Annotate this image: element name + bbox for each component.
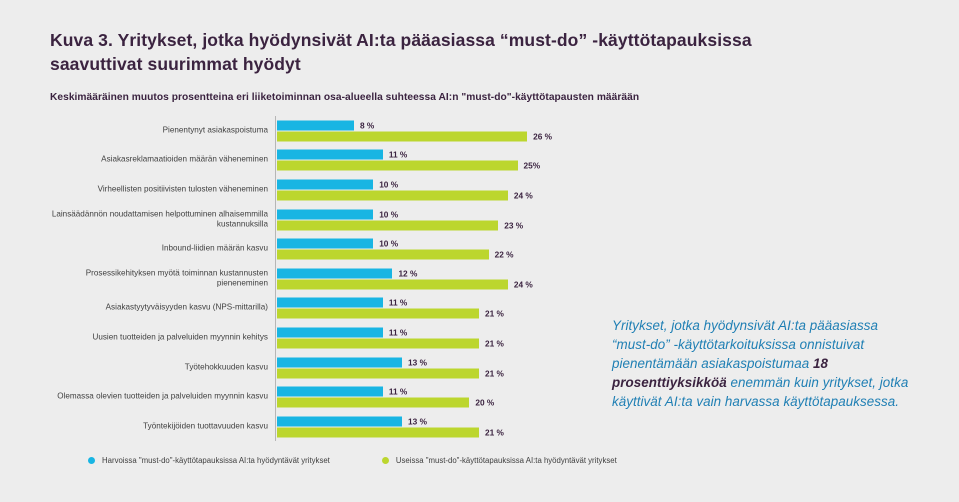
bar-wrapper: 21 % xyxy=(277,338,570,348)
bar-wrapper: 23 % xyxy=(277,220,570,230)
bar-wrapper: 11 % xyxy=(277,387,570,397)
bar-value-label: 10 % xyxy=(379,179,398,189)
bar-high-adopters xyxy=(277,161,518,171)
bar-wrapper: 11 % xyxy=(277,150,570,160)
bar-low-adopters xyxy=(277,120,354,130)
bar-group: 10 %22 % xyxy=(277,239,570,260)
bar-low-adopters xyxy=(277,209,373,219)
bar-wrapper: 24 % xyxy=(277,190,570,200)
bar-high-adopters xyxy=(277,368,479,378)
bar-wrapper: 12 % xyxy=(277,268,570,278)
bar-value-label: 20 % xyxy=(475,398,494,408)
bar-wrapper: 26 % xyxy=(277,131,570,141)
bar-value-label: 12 % xyxy=(398,268,417,278)
bar-value-label: 23 % xyxy=(504,220,523,230)
bar-group: 13 %21 % xyxy=(277,416,570,437)
chart-legend: Harvoissa "must-do"-käyttötapauksissa AI… xyxy=(88,455,617,466)
bar-high-adopters xyxy=(277,338,479,348)
bar-group: 8 %26 % xyxy=(277,120,570,141)
bar-wrapper: 10 % xyxy=(277,239,570,249)
legend-swatch-high xyxy=(382,457,389,464)
bar-value-label: 21 % xyxy=(485,427,504,437)
bar-group: 10 %23 % xyxy=(277,209,570,230)
bar-high-adopters xyxy=(277,279,508,289)
callout-lead: Yritykset, jotka hyödynsivät AI:ta pääas… xyxy=(612,318,878,371)
bar-group: 12 %24 % xyxy=(277,268,570,289)
bar-low-adopters xyxy=(277,179,373,189)
bar-wrapper: 24 % xyxy=(277,279,570,289)
bar-value-label: 11 % xyxy=(389,298,407,308)
bar-value-label: 13 % xyxy=(408,357,427,367)
bar-low-adopters xyxy=(277,327,383,337)
bar-row-label: Lainsäädännön noudattamisen helpottumine… xyxy=(50,209,268,230)
bar-row-label: Pienentynyt asiakaspoistuma xyxy=(50,125,268,136)
bar-group: 10 %24 % xyxy=(277,179,570,200)
bar-high-adopters xyxy=(277,220,498,230)
bar-row-label: Olemassa olevien tuotteiden ja palveluid… xyxy=(50,392,268,403)
bar-row: Inbound-liidien määrän kasvu10 %22 % xyxy=(50,234,570,264)
legend-item[interactable]: Useissa "must-do"-käyttötapauksissa AI:t… xyxy=(382,455,617,466)
bar-value-label: 11 % xyxy=(389,387,407,397)
bar-low-adopters xyxy=(277,357,402,367)
bar-group: 11 %21 % xyxy=(277,298,570,319)
bar-wrapper: 11 % xyxy=(277,298,570,308)
legend-item[interactable]: Harvoissa "must-do"-käyttötapauksissa AI… xyxy=(88,455,330,466)
bar-row: Asiakasreklamaatioiden määrän vähenemine… xyxy=(50,146,570,176)
bar-value-label: 13 % xyxy=(408,416,427,426)
bar-wrapper: 13 % xyxy=(277,416,570,426)
bar-group: 13 %21 % xyxy=(277,357,570,378)
callout-text: Yritykset, jotka hyödynsivät AI:ta pääas… xyxy=(612,316,912,411)
bar-row: Prosessikehityksen myötä toiminnan kusta… xyxy=(50,264,570,294)
bar-low-adopters xyxy=(277,387,383,397)
plot-area: Pienentynyt asiakaspoistuma8 %26 %Asiaka… xyxy=(50,116,570,441)
bar-high-adopters xyxy=(277,131,527,141)
bar-high-adopters xyxy=(277,250,489,260)
legend-label: Useissa "must-do"-käyttötapauksissa AI:t… xyxy=(396,455,617,466)
bar-high-adopters xyxy=(277,427,479,437)
bar-low-adopters xyxy=(277,416,402,426)
bar-row-label: Asiakasreklamaatioiden määrän vähenemine… xyxy=(50,155,268,166)
legend-label: Harvoissa "must-do"-käyttötapauksissa AI… xyxy=(102,455,330,466)
bar-wrapper: 11 % xyxy=(277,327,570,337)
bar-row: Pienentynyt asiakaspoistuma8 %26 % xyxy=(50,116,570,146)
bar-value-label: 21 % xyxy=(485,309,504,319)
bar-high-adopters xyxy=(277,190,508,200)
bar-wrapper: 8 % xyxy=(277,120,570,130)
bar-wrapper: 13 % xyxy=(277,357,570,367)
bar-row: Lainsäädännön noudattamisen helpottumine… xyxy=(50,205,570,235)
bar-value-label: 11 % xyxy=(389,327,407,337)
bar-row: Työtehokkuuden kasvu13 %21 % xyxy=(50,353,570,383)
bar-wrapper: 25% xyxy=(277,161,570,171)
chart-header: Kuva 3. Yritykset, jotka hyödynsivät AI:… xyxy=(50,28,810,103)
chart-subtitle: Keskimääräinen muutos prosentteina eri l… xyxy=(50,92,810,103)
bar-value-label: 24 % xyxy=(514,190,533,200)
bar-wrapper: 21 % xyxy=(277,309,570,319)
bar-wrapper: 10 % xyxy=(277,209,570,219)
bar-wrapper: 20 % xyxy=(277,398,570,408)
legend-swatch-low xyxy=(88,457,95,464)
bar-high-adopters xyxy=(277,398,469,408)
bar-high-adopters xyxy=(277,309,479,319)
bar-wrapper: 10 % xyxy=(277,179,570,189)
bar-row-label: Työtehokkuuden kasvu xyxy=(50,362,268,373)
bar-value-label: 21 % xyxy=(485,368,504,378)
bar-group: 11 %25% xyxy=(277,150,570,171)
bar-row-label: Prosessikehityksen myötä toiminnan kusta… xyxy=(50,268,268,289)
bar-value-label: 21 % xyxy=(485,338,504,348)
bar-value-label: 24 % xyxy=(514,279,533,289)
bar-row-label: Inbound-liidien määrän kasvu xyxy=(50,244,268,255)
bar-row: Olemassa olevien tuotteiden ja palveluid… xyxy=(50,382,570,412)
bar-row: Virheellisten positiivisten tulosten väh… xyxy=(50,175,570,205)
bar-row: Asiakastyytyväisyyden kasvu (NPS-mittari… xyxy=(50,294,570,324)
bar-wrapper: 22 % xyxy=(277,250,570,260)
bar-row-label: Uusien tuotteiden ja palveluiden myynnin… xyxy=(50,333,268,344)
page-title: Kuva 3. Yritykset, jotka hyödynsivät AI:… xyxy=(50,28,810,76)
bar-wrapper: 21 % xyxy=(277,427,570,437)
bar-rows: Pienentynyt asiakaspoistuma8 %26 %Asiaka… xyxy=(50,116,570,441)
bar-value-label: 26 % xyxy=(533,131,552,141)
bar-wrapper: 21 % xyxy=(277,368,570,378)
bar-low-adopters xyxy=(277,268,392,278)
bar-group: 11 %20 % xyxy=(277,387,570,408)
bar-row-label: Työntekijöiden tuottavuuden kasvu xyxy=(50,421,268,432)
chart-figure: Kuva 3. Yritykset, jotka hyödynsivät AI:… xyxy=(0,0,959,502)
bar-value-label: 25% xyxy=(524,161,541,171)
bar-value-label: 8 % xyxy=(360,120,374,130)
bar-value-label: 11 % xyxy=(389,150,407,160)
bar-group: 11 %21 % xyxy=(277,327,570,348)
bar-low-adopters xyxy=(277,150,383,160)
bar-row: Työntekijöiden tuottavuuden kasvu13 %21 … xyxy=(50,412,570,442)
bar-row-label: Asiakastyytyväisyyden kasvu (NPS-mittari… xyxy=(50,303,268,314)
bar-row-label: Virheellisten positiivisten tulosten väh… xyxy=(50,185,268,196)
bar-value-label: 10 % xyxy=(379,209,398,219)
bar-low-adopters xyxy=(277,298,383,308)
bar-value-label: 10 % xyxy=(379,239,398,249)
bar-value-label: 22 % xyxy=(495,250,514,260)
bar-row: Uusien tuotteiden ja palveluiden myynnin… xyxy=(50,323,570,353)
bar-low-adopters xyxy=(277,239,373,249)
